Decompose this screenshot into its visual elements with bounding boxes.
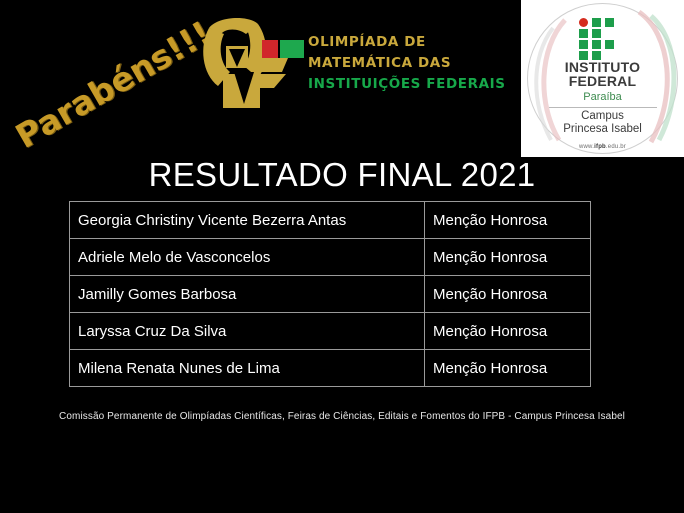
ifpb-website-name: ifpb <box>594 144 606 150</box>
table-row: Milena Renata Nunes de Lima Menção Honro… <box>70 350 591 387</box>
ifpb-logo-panel: INSTITUTO FEDERAL Paraíba Campus Princes… <box>521 0 684 157</box>
results-table-body: Georgia Christiny Vicente Bezerra Antas … <box>70 202 591 387</box>
ifpb-website-prefix: www. <box>579 144 594 150</box>
participant-name: Adriele Melo de Vasconcelos <box>70 239 425 276</box>
participant-name: Laryssa Cruz Da Silva <box>70 313 425 350</box>
ifpb-mark-icon <box>579 18 627 58</box>
ifpb-website: www.ifpb.edu.br <box>579 144 626 150</box>
ifpb-campus-line-1: Campus <box>581 110 624 123</box>
results-table: Georgia Christiny Vicente Bezerra Antas … <box>69 201 591 387</box>
footer-credit: Comissão Permanente de Olimpíadas Cientí… <box>0 411 684 422</box>
result-slide: Parabéns!!! OLIMPÍADA DE MATEMÁTICA DAS … <box>0 0 684 513</box>
omif-line-2: MATEMÁTICA DAS <box>308 53 478 74</box>
ifpb-state-label: Paraíba <box>583 90 622 104</box>
table-row: Jamilly Gomes Barbosa Menção Honrosa <box>70 276 591 313</box>
page-title: RESULTADO FINAL 2021 <box>0 156 684 194</box>
participant-name: Georgia Christiny Vicente Bezerra Antas <box>70 202 425 239</box>
participant-name: Jamilly Gomes Barbosa <box>70 276 425 313</box>
table-row: Laryssa Cruz Da Silva Menção Honrosa <box>70 313 591 350</box>
participant-name: Milena Renata Nunes de Lima <box>70 350 425 387</box>
omif-line-1: OLIMPÍADA DE <box>308 32 478 53</box>
ifpb-website-suffix: .edu.br <box>606 144 626 150</box>
participant-award: Menção Honrosa <box>425 350 591 387</box>
participant-award: Menção Honrosa <box>425 239 591 276</box>
omif-logo: OLIMPÍADA DE MATEMÁTICA DAS INSTITUIÇÕES… <box>196 14 476 118</box>
omif-mark-icon <box>196 16 306 116</box>
omif-line-3: INSTITUIÇÕES FEDERAIS <box>308 74 478 95</box>
congratulations-banner: Parabéns!!! <box>0 0 229 180</box>
participant-award: Menção Honrosa <box>425 202 591 239</box>
participant-award: Menção Honrosa <box>425 313 591 350</box>
congratulations-text: Parabéns!!! <box>9 13 218 156</box>
omif-wordmark: OLIMPÍADA DE MATEMÁTICA DAS INSTITUIÇÕES… <box>308 32 478 95</box>
ifpb-institute-line-2: FEDERAL <box>569 74 637 89</box>
ifpb-logo-content: INSTITUTO FEDERAL Paraíba Campus Princes… <box>521 0 684 157</box>
participant-award: Menção Honrosa <box>425 276 591 313</box>
table-row: Adriele Melo de Vasconcelos Menção Honro… <box>70 239 591 276</box>
ifpb-campus-line-2: Princesa Isabel <box>563 123 642 136</box>
table-row: Georgia Christiny Vicente Bezerra Antas … <box>70 202 591 239</box>
ifpb-divider <box>549 107 657 108</box>
